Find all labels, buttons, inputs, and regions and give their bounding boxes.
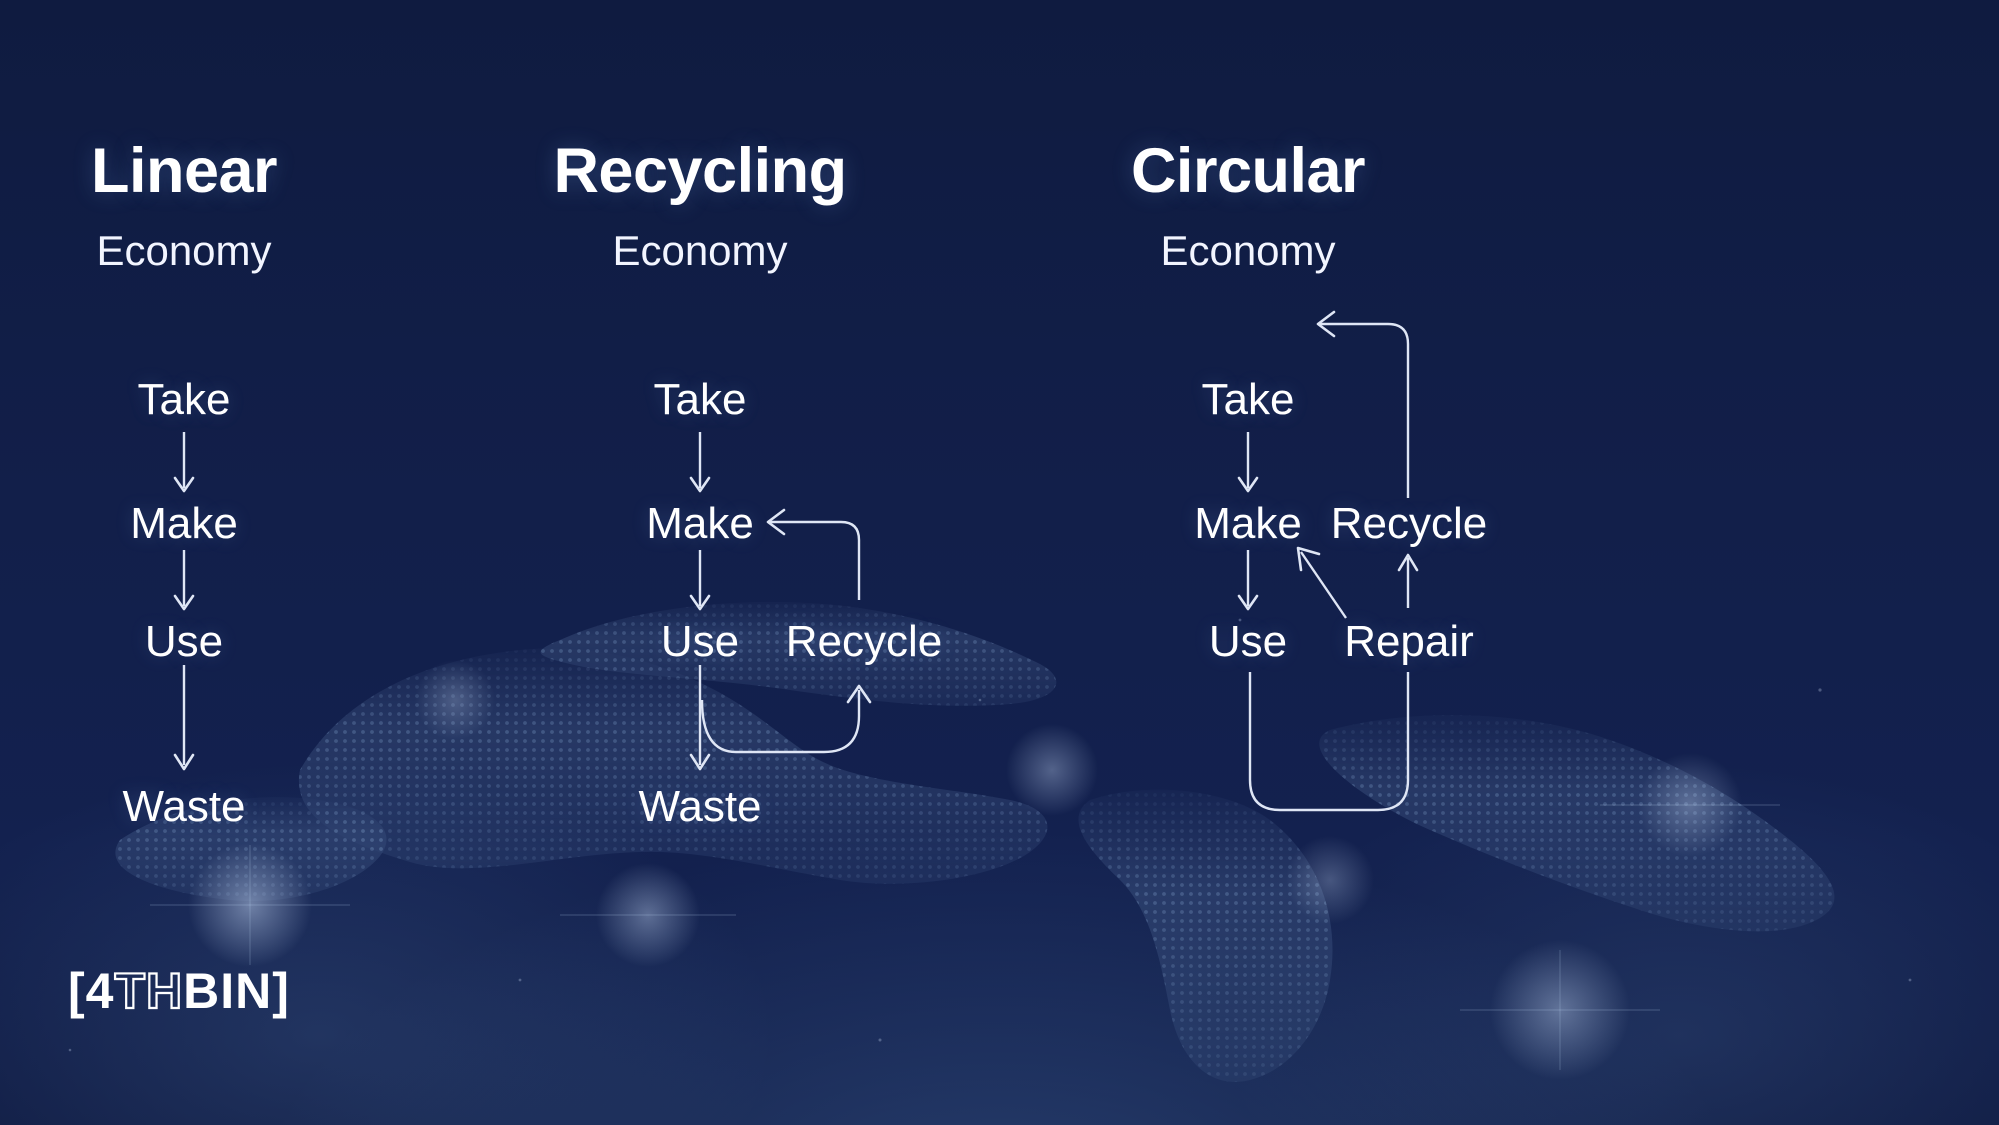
circular-node-take: Take	[1202, 378, 1295, 422]
circular-flow-arrows	[928, 0, 1568, 1125]
arrow-use-repair	[1250, 672, 1408, 810]
circular-node-recycle: Recycle	[1331, 502, 1488, 546]
linear-node-waste: Waste	[122, 785, 245, 829]
logo-solid-lead: 4	[86, 966, 115, 1016]
brand-logo-4thbin[interactable]: [ 4 TH BIN ]	[68, 962, 290, 1020]
logo-solid-bin: BIN	[183, 966, 272, 1016]
column-recycling: Recycling Economy Take Make Use Waste Re…	[380, 0, 1020, 1125]
linear-node-make: Make	[130, 502, 238, 546]
linear-node-take: Take	[138, 378, 231, 422]
recycling-node-waste: Waste	[638, 785, 761, 829]
arrow-recycle-take	[1320, 324, 1408, 498]
recycling-node-use: Use	[661, 620, 739, 664]
linear-node-use: Use	[145, 620, 223, 664]
recycling-node-make: Make	[646, 502, 754, 546]
arrow-use-recycle	[702, 690, 859, 752]
recycling-node-recycle: Recycle	[786, 620, 943, 664]
arrow-repair-make	[1301, 552, 1346, 618]
diagram-stage: Linear Economy Take Make Use Waste Recyc…	[0, 0, 1999, 1125]
circular-node-make: Make	[1194, 502, 1302, 546]
arrowhead-repair-make	[1298, 548, 1319, 570]
recycling-flow-arrows	[380, 0, 1020, 1125]
logo-bracket-open: [	[68, 966, 86, 1016]
recycling-node-take: Take	[654, 378, 747, 422]
logo-hollow-th: TH	[114, 966, 183, 1016]
circular-node-repair: Repair	[1344, 620, 1474, 664]
logo-bracket-close: ]	[272, 966, 290, 1016]
circular-node-use: Use	[1209, 620, 1287, 664]
column-circular: Circular Economy Take Make Use Recycle	[928, 0, 1568, 1125]
